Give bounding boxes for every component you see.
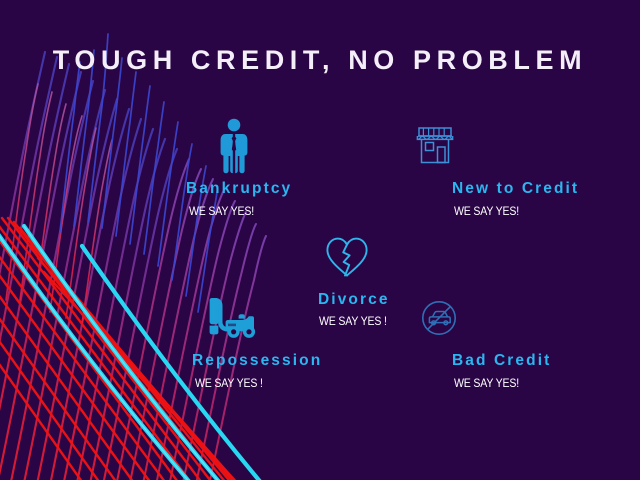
feature-title: Bad Credit [452, 352, 551, 370]
feature-title: Divorce [318, 291, 390, 309]
feature-title: New to Credit [452, 180, 579, 198]
broken-heart-icon [324, 234, 370, 285]
feature-title: Repossession [192, 352, 322, 370]
tow-truck-icon [206, 294, 256, 347]
feature-subtitle: WE SAY YES ! [319, 314, 387, 328]
poster-canvas: TOUGH CREDIT, NO PROBLEM Bankruptcy WE S… [0, 0, 640, 480]
feature-subtitle: WE SAY YES ! [195, 376, 263, 390]
no-car-icon [419, 298, 459, 343]
person-suit-icon [217, 118, 251, 179]
feature-title: Bankruptcy [186, 180, 292, 198]
feature-subtitle: WE SAY YES! [454, 376, 519, 390]
feature-subtitle: WE SAY YES! [454, 204, 519, 218]
page-title: TOUGH CREDIT, NO PROBLEM [0, 45, 640, 76]
feature-subtitle: WE SAY YES! [189, 204, 254, 218]
storefront-icon [414, 122, 456, 173]
